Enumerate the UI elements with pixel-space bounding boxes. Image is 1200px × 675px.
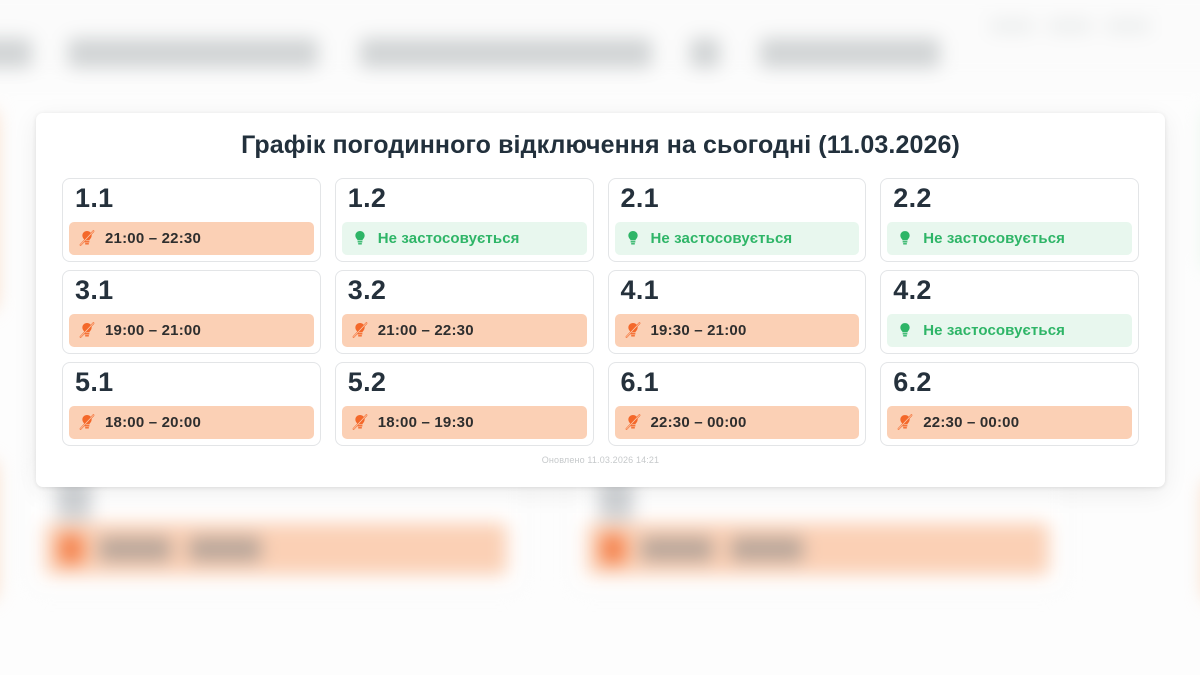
outage-time-range: 18:00 – 19:30 [378,415,474,430]
group-number: 3.1 [69,275,314,304]
background-card-text [99,537,171,561]
background-card-band [45,523,507,575]
group-number: 2.2 [887,183,1132,212]
bulb-off-icon [78,228,96,248]
background-card-band [587,523,1049,575]
background-card-text [731,537,803,561]
outage-schedule-panel: Графік погодинного відключення на сьогод… [36,113,1165,487]
background-header-text [690,38,720,68]
background-header-accent [1106,20,1150,32]
bulb-on-icon [896,320,914,340]
outage-time-range: 18:00 – 20:00 [105,415,201,430]
group-number: 5.2 [342,367,587,396]
outage-window-band: 21:00 – 22:30 [69,222,314,255]
bulb-on-icon [351,228,369,248]
no-outage-label: Не застосовується [378,231,520,246]
outage-time-range: 21:00 – 22:30 [378,323,474,338]
bulb-on-icon [896,228,914,248]
group-number: 3.2 [342,275,587,304]
group-card-3.2[interactable]: 3.221:00 – 22:30 [335,270,594,354]
last-updated-label: Оновлено 11.03.2026 14:21 [36,446,1165,465]
background-card-text [189,537,261,561]
no-outage-label: Не застосовується [651,231,793,246]
background-header-text [68,38,318,68]
bulb-off-icon [624,320,642,340]
group-number: 6.1 [615,367,860,396]
bulb-off-icon [351,320,369,340]
background-header-text [360,38,652,68]
bulb-off-icon [351,412,369,432]
group-card-6.2[interactable]: 6.222:30 – 00:00 [880,362,1139,446]
group-number: 4.1 [615,275,860,304]
group-number: 2.1 [615,183,860,212]
group-card-4.1[interactable]: 4.119:30 – 21:00 [608,270,867,354]
group-number: 4.2 [887,275,1132,304]
background-header-text [760,38,940,68]
group-card-2.2[interactable]: 2.2Не застосовується [880,178,1139,262]
background-header-accent [1048,20,1092,32]
group-number: 6.2 [887,367,1132,396]
group-card-1.1[interactable]: 1.121:00 – 22:30 [62,178,321,262]
no-outage-band: Не застосовується [887,314,1132,347]
group-number: 5.1 [69,367,314,396]
group-card-3.1[interactable]: 3.119:00 – 21:00 [62,270,321,354]
bulb-off-icon [78,320,96,340]
bulb-off-icon [78,412,96,432]
no-outage-label: Не застосовується [923,323,1065,338]
outage-window-band: 19:30 – 21:00 [615,314,860,347]
outage-time-range: 19:30 – 21:00 [651,323,747,338]
no-outage-label: Не застосовується [923,231,1065,246]
group-card-2.1[interactable]: 2.1Не застосовується [608,178,867,262]
background-card-text [641,537,713,561]
bulb-off-icon [624,412,642,432]
outage-time-range: 21:00 – 22:30 [105,231,201,246]
background-card-icon [59,534,83,564]
no-outage-band: Не застосовується [615,222,860,255]
background-header-accent [990,20,1034,32]
group-grid: 1.121:00 – 22:301.2Не застосовується2.1Н… [36,160,1165,446]
group-number: 1.1 [69,183,314,212]
group-card-4.2[interactable]: 4.2Не застосовується [880,270,1139,354]
group-card-1.2[interactable]: 1.2Не застосовується [335,178,594,262]
background-card-icon [601,534,625,564]
no-outage-band: Не застосовується [887,222,1132,255]
group-card-5.2[interactable]: 5.218:00 – 19:30 [335,362,594,446]
group-number: 1.2 [342,183,587,212]
group-card-6.1[interactable]: 6.122:30 – 00:00 [608,362,867,446]
bulb-off-icon [896,412,914,432]
outage-window-band: 18:00 – 20:00 [69,406,314,439]
outage-time-range: 19:00 – 21:00 [105,323,201,338]
no-outage-band: Не застосовується [342,222,587,255]
outage-window-band: 18:00 – 19:30 [342,406,587,439]
group-card-5.1[interactable]: 5.118:00 – 20:00 [62,362,321,446]
outage-window-band: 22:30 – 00:00 [615,406,860,439]
bulb-on-icon [624,228,642,248]
page-title: Графік погодинного відключення на сьогод… [36,113,1165,160]
outage-window-band: 21:00 – 22:30 [342,314,587,347]
outage-window-band: 19:00 – 21:00 [69,314,314,347]
outage-window-band: 22:30 – 00:00 [887,406,1132,439]
outage-time-range: 22:30 – 00:00 [651,415,747,430]
outage-time-range: 22:30 – 00:00 [923,415,1019,430]
background-header-text [0,38,32,68]
